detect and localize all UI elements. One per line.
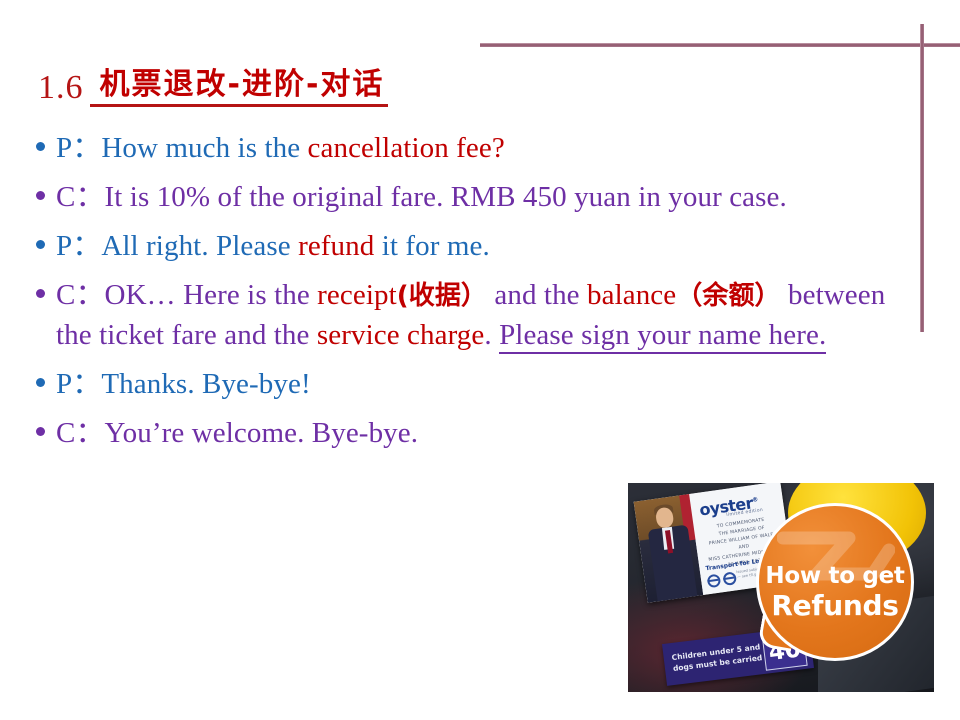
text-run-underlined: Please sign your name here. <box>499 319 826 354</box>
bullet-dot-icon <box>36 142 45 151</box>
text-run-highlight: balance <box>587 279 676 311</box>
list-item: P：Thanks. Bye-bye! <box>34 364 914 404</box>
list-item-text: C：It is 10% of the original fare. RMB 45… <box>56 177 787 217</box>
roundel-icon-2 <box>722 571 737 586</box>
bullet-dot-icon <box>36 240 45 249</box>
list-item-text: P：Thanks. Bye-bye! <box>56 364 311 404</box>
text-run: Thanks. Bye-bye! <box>101 368 310 400</box>
list-item-text: C：OK… Here is the receipt(收据） and the ba… <box>56 275 901 355</box>
title-number: 1.6 <box>38 71 84 107</box>
roundel-icon-1 <box>707 574 722 589</box>
text-run: it for me. <box>374 230 489 262</box>
badge-line-2: Refunds <box>759 589 911 622</box>
notice-sign-text: Children under 5 and dogs must be carrie… <box>671 641 765 675</box>
text-run: All right. Please <box>101 230 298 262</box>
text-run-highlight: receipt <box>317 279 397 311</box>
list-item: P：How much is the cancellation fee? <box>34 128 914 168</box>
text-run-highlight: refund <box>298 230 374 262</box>
speaker-label: C： <box>56 417 105 449</box>
text-run-highlight: cancellation fee? <box>308 132 505 164</box>
refunds-photo: oyster® limited edition TO COMMEMORATE T… <box>628 483 934 692</box>
speaker-label: P： <box>56 230 101 262</box>
bullet-dot-icon <box>36 191 45 200</box>
list-item-text: P：All right. Please refund it for me. <box>56 226 490 266</box>
page-title: 1.6 机票退改-进阶-对话 <box>38 70 388 107</box>
registered-mark-icon: ® <box>752 496 758 504</box>
speaker-label: P： <box>56 368 101 400</box>
text-run: It is 10% of the original fare. RMB 450 … <box>105 181 787 213</box>
bullet-dot-icon <box>36 289 45 298</box>
text-run-gloss: (收据） <box>397 281 487 311</box>
speaker-label: C： <box>56 181 105 213</box>
how-to-get-refunds-badge: How to get Refunds <box>756 503 914 661</box>
list-item-text: C：You’re welcome. Bye-bye. <box>56 413 418 453</box>
text-run: . <box>484 319 499 351</box>
text-run: OK… Here is the <box>105 279 318 311</box>
slide-canvas: 1.6 机票退改-进阶-对话 P：How much is the cancell… <box>0 0 960 720</box>
tfl-roundel-icon <box>707 571 738 588</box>
text-run: How much is the <box>101 132 307 164</box>
list-item: C：It is 10% of the original fare. RMB 45… <box>34 177 914 217</box>
decorative-vertical-rule <box>920 24 924 332</box>
list-item: C：You’re welcome. Bye-bye. <box>34 413 914 453</box>
dialogue-list: P：How much is the cancellation fee? C：It… <box>34 128 914 462</box>
text-run-highlight: service charge <box>317 319 485 351</box>
list-item: P：All right. Please refund it for me. <box>34 226 914 266</box>
list-item: C：OK… Here is the receipt(收据） and the ba… <box>34 275 914 355</box>
badge-line-1: How to get <box>759 563 911 589</box>
bullet-dot-icon <box>36 427 45 436</box>
text-run: You’re welcome. Bye-bye. <box>105 417 419 449</box>
text-run-gloss: （余额） <box>676 281 780 311</box>
decorative-horizontal-rule <box>480 43 960 47</box>
text-run: and the <box>487 279 587 311</box>
speaker-label: C： <box>56 279 105 311</box>
speaker-label: P： <box>56 132 101 164</box>
list-item-text: P：How much is the cancellation fee? <box>56 128 505 168</box>
title-heading: 机票退改-进阶-对话 <box>90 70 389 107</box>
bullet-dot-icon <box>36 378 45 387</box>
